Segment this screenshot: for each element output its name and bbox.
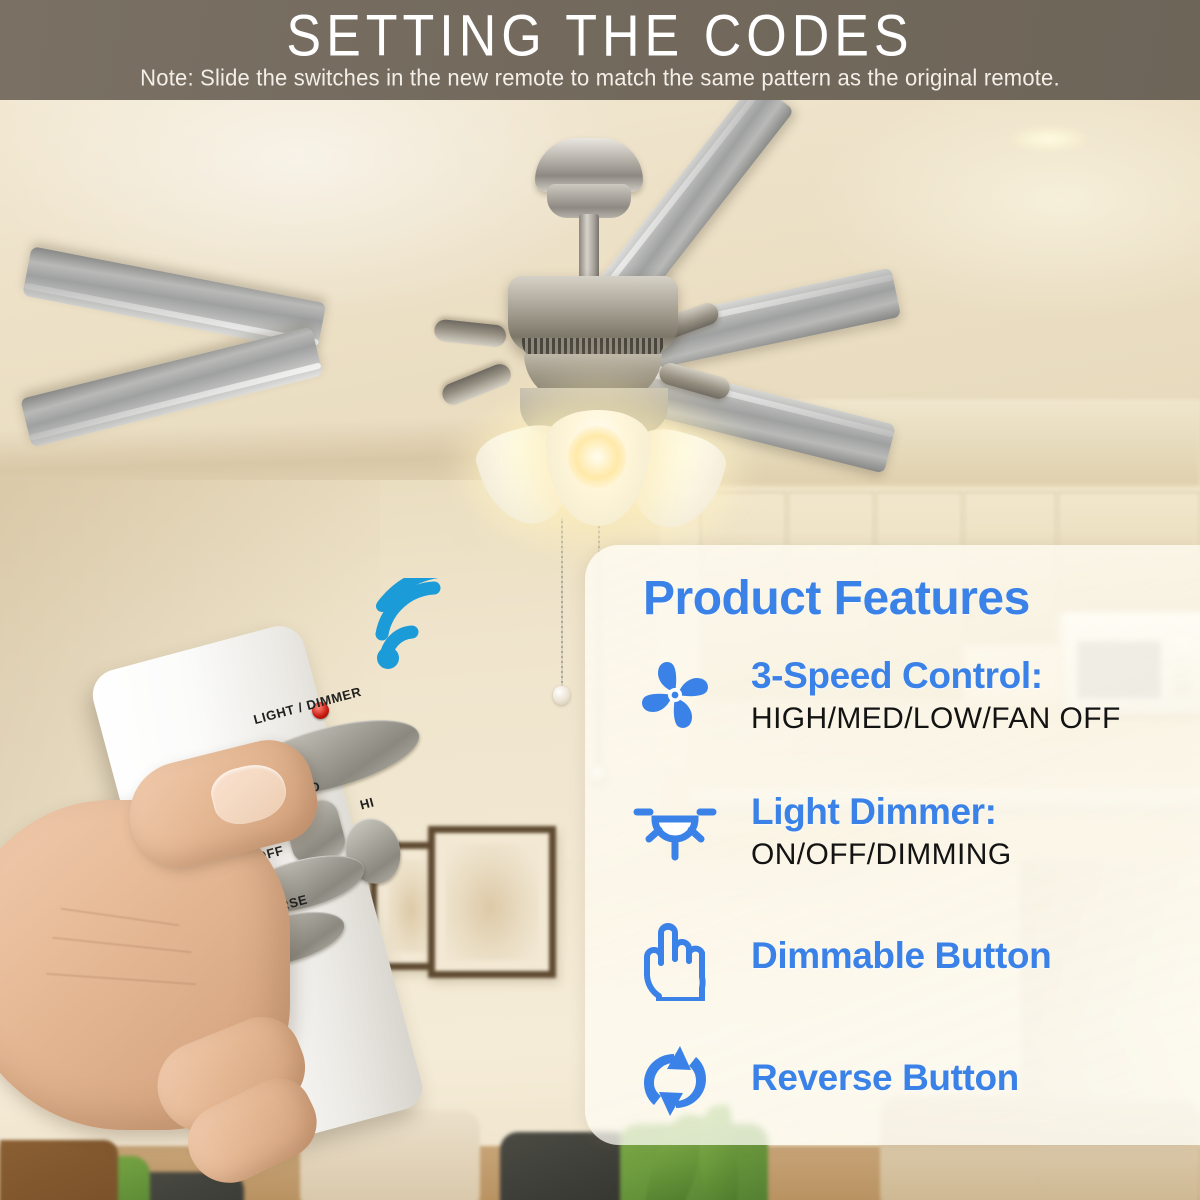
header-banner: SETTING THE CODES Note: Slide the switch…: [0, 0, 1200, 100]
feature-heading: Reverse Button: [751, 1055, 1191, 1101]
fan-downrod: [579, 214, 599, 284]
header-title: SETTING THE CODES: [0, 3, 1200, 70]
light-bulb-glow: [568, 426, 626, 488]
fan-blade-arm: [433, 319, 507, 348]
product-features-panel: Product Features 3-Speed Control: HIGH: [585, 545, 1200, 1145]
header-note: Note: Slide the switches in the new remo…: [0, 62, 1200, 94]
feature-heading: 3-Speed Control:: [751, 653, 1191, 699]
feature-text: Reverse Button: [751, 1055, 1191, 1101]
feature-subtext: HIGH/MED/LOW/FAN OFF: [751, 699, 1191, 739]
product-infographic: LIGHT / DIMMER LO MED HI OFF REVERSE GIF…: [0, 0, 1200, 1200]
feature-heading: Light Dimmer:: [751, 789, 1191, 835]
light-dimmer-icon: [633, 789, 717, 873]
pull-chain: [561, 518, 563, 688]
reverse-arrows-icon: [633, 1039, 717, 1123]
hand: [0, 730, 390, 1200]
feature-text: 3-Speed Control: HIGH/MED/LOW/FAN OFF: [751, 653, 1191, 739]
feature-subtext: ON/OFF/DIMMING: [751, 835, 1191, 875]
fan-canopy-lower: [547, 184, 631, 218]
fan-propeller-icon: [633, 653, 717, 737]
hand-holding-remote: LIGHT / DIMMER LO MED HI OFF REVERSE GIF…: [60, 530, 540, 1200]
pointing-hand-icon: [633, 917, 717, 1001]
feature-heading: Dimmable Button: [751, 933, 1191, 979]
ceiling-fan: [150, 110, 1050, 590]
fan-blade-arm: [439, 361, 514, 408]
feature-text: Dimmable Button: [751, 933, 1191, 979]
panel-title: Product Features: [643, 571, 1183, 626]
feature-text: Light Dimmer: ON/OFF/DIMMING: [751, 789, 1191, 875]
pull-chain-bead: [553, 686, 570, 705]
